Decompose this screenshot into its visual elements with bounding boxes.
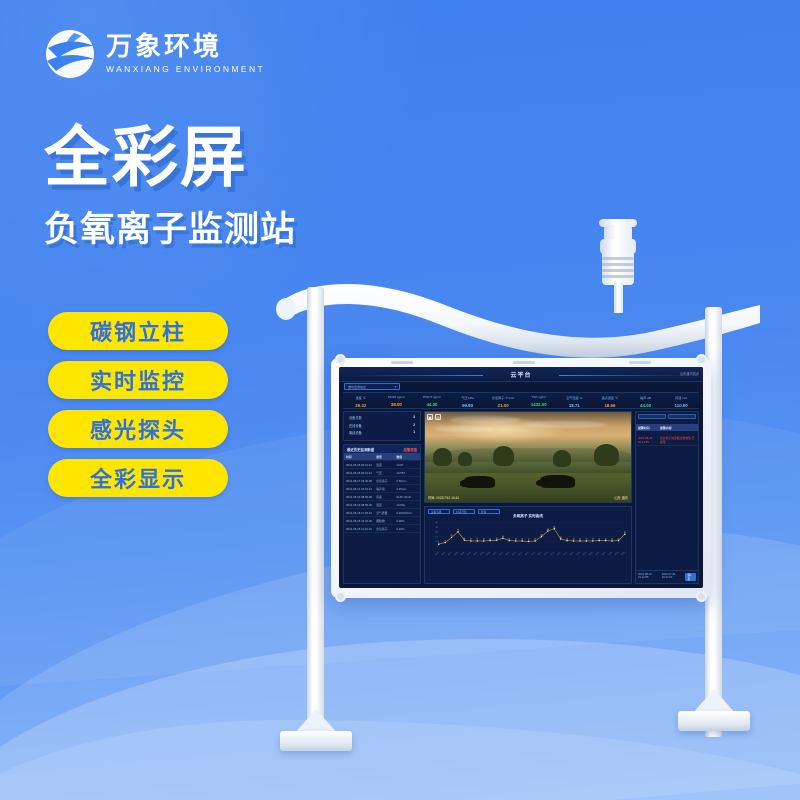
tree-5 <box>594 444 619 466</box>
svg-text:08-18: 08-18 <box>544 552 548 556</box>
cabinet-vent-left <box>391 361 413 364</box>
negative-ion-line-chart: 60483624120508-01908-022208-033608-04150… <box>428 520 628 555</box>
svg-text:12: 12 <box>436 541 438 543</box>
svg-text:08-06: 08-06 <box>467 552 471 556</box>
cloud-1 <box>450 416 520 424</box>
alarm-page-indicator[interactable]: 第1页 <box>685 573 696 581</box>
brand-text: 万象环境 WANXIANG ENVIRONMENT <box>106 34 265 74</box>
metric-10: 风速 m/s110.00 <box>663 393 699 408</box>
table-cell: 2022-08-15 13:02:36 <box>346 519 376 523</box>
svg-text:08-10: 08-10 <box>493 552 497 556</box>
metric-label: PM2.5 ug/m³ <box>414 395 450 399</box>
metric-label: 空气湿度 % <box>557 395 593 400</box>
table-row[interactable]: 2022-08-15 11:22:10负氧离子0.26% <box>344 525 420 533</box>
station-select[interactable]: 潍坊监测站点 ▾ <box>344 383 400 390</box>
svg-text:36: 36 <box>436 532 438 534</box>
table-cell: 2022-08-28 09:10:12 <box>346 463 376 467</box>
tree-2 <box>458 452 472 466</box>
svg-text:13: 13 <box>521 539 523 541</box>
alarm-footer-right: 2022-07-31 16:47:00 <box>662 573 686 581</box>
table-cell: 0.0001%CO <box>396 511 418 515</box>
base-gusset-left <box>295 709 337 733</box>
table-cell: 2022-08-18 17:05:16 <box>346 511 376 515</box>
svg-text:08-27: 08-27 <box>602 552 606 556</box>
video-timestamp: 时间: 2022/7/13 16:42 <box>428 495 459 500</box>
metric-value: 38.00 <box>379 402 415 407</box>
svg-text:9: 9 <box>445 540 446 542</box>
svg-text:44: 44 <box>553 526 555 528</box>
metric-8: 露点温度 ℃18.56 <box>592 393 628 408</box>
table-column-header: 类型 <box>376 455 396 459</box>
svg-text:18: 18 <box>560 537 562 539</box>
user-label[interactable]: 山东潍坊站点 <box>680 371 699 376</box>
svg-text:13: 13 <box>515 539 517 541</box>
brand-logo: 万象环境 WANXIANG ENVIRONMENT <box>44 28 265 80</box>
svg-text:08-13: 08-13 <box>512 552 516 556</box>
platform-title: 云平台 <box>339 370 703 379</box>
table-cell: 19.8hk <box>396 503 418 507</box>
svg-text:08-21: 08-21 <box>563 552 567 556</box>
metric-label: 负氧离子 个/cm³ <box>485 395 521 400</box>
metric-label: 温度 ℃ <box>343 395 379 400</box>
history-table-panel: 最近历史监测数据 超警戒值 时间类型数值2022-08-28 09:10:12温… <box>343 444 421 584</box>
table-row[interactable]: 2022-08-20 08:56:28风速0145.10m/h <box>344 493 420 501</box>
table-cell: 2022-08-27 16:40:38 <box>346 479 376 483</box>
svg-text:0: 0 <box>437 546 438 548</box>
metric-1: 温度 ℃26.32 <box>343 393 379 408</box>
tree-3 <box>493 446 514 466</box>
svg-text:08-05: 08-05 <box>461 552 465 556</box>
svg-text:08-02: 08-02 <box>442 552 446 556</box>
svg-text:14: 14 <box>598 538 600 540</box>
svg-text:08-09: 08-09 <box>486 552 490 556</box>
square-flange-base-right <box>678 711 750 731</box>
feature-badge-4: 全彩显示 <box>48 459 228 497</box>
center-column: ▣ ◎ 时间: 2022/7/13 16:42 山东 潍坊 设备选择 时间范围 … <box>424 411 632 584</box>
svg-text:13: 13 <box>573 539 575 541</box>
brand-name-en: WANXIANG ENVIRONMENT <box>106 64 265 74</box>
svg-text:13: 13 <box>470 539 472 541</box>
table-row[interactable]: 2022-08-21 16:10:21噪声值3.95m/s <box>344 485 420 493</box>
svg-text:30: 30 <box>624 532 626 534</box>
svg-text:13: 13 <box>476 539 478 541</box>
alarm-panel: 报警时间 报警内容 2022-08-12 10:12:55负氧离子浓度超过警戒值… <box>635 411 699 584</box>
stat-label: 设备总数 <box>349 415 362 420</box>
mount-lug-top-right <box>696 354 707 365</box>
chart-title: 负氧离子 实时曲线 <box>425 514 631 519</box>
table-column-header: 时间 <box>346 455 376 459</box>
alarm-footer: 2022-08-12 10:12:55 2022-07-31 16:47:00 … <box>636 570 698 583</box>
svg-text:13: 13 <box>534 539 536 541</box>
device-stats-panel: 设备总数3在线设备2离线设备1 <box>343 411 421 441</box>
svg-text:13: 13 <box>483 539 485 541</box>
alarm-col-time: 报警时间 <box>638 426 660 430</box>
svg-text:14: 14 <box>618 538 620 540</box>
video-location: 山东 潍坊 <box>614 495 628 500</box>
svg-text:14: 14 <box>566 538 568 540</box>
table-cell: 气压 <box>376 471 396 475</box>
table-row[interactable]: 2022-08-19 08:55:30湿度19.8hk <box>344 501 420 509</box>
cow-1-head <box>460 480 470 486</box>
table-cell: 温度 <box>376 463 396 467</box>
svg-text:14: 14 <box>508 538 510 540</box>
svg-text:13: 13 <box>592 539 594 541</box>
stat-label: 离线设备 <box>349 430 362 435</box>
svg-text:13: 13 <box>579 539 581 541</box>
metric-4: 气压 kPa99.80 <box>450 393 486 408</box>
metric-label: 风速 m/s <box>663 395 699 400</box>
chevron-down-icon: ▾ <box>394 385 396 389</box>
svg-text:08-19: 08-19 <box>551 552 555 556</box>
table-cell: 2022-08-19 08:55:30 <box>346 503 376 507</box>
svg-text:5: 5 <box>438 542 439 544</box>
alarm-tag-2 <box>668 414 696 419</box>
mount-lug-bottom-right <box>696 591 707 602</box>
monitoring-station-product: 云平台 山东潍坊站点 潍坊监测站点 ▾ 温度 ℃26.32PM10 ug/m³3… <box>255 215 775 775</box>
feature-badge-3: 感光探头 <box>48 410 228 448</box>
table-cell: 2022-08-15 11:22:10 <box>346 527 376 531</box>
svg-text:08-14: 08-14 <box>519 552 523 556</box>
svg-text:12: 12 <box>528 539 530 541</box>
alarm-table-header: 报警时间 报警内容 <box>636 424 698 431</box>
svg-text:08-20: 08-20 <box>557 552 561 556</box>
table-row[interactable]: 2022-08-18 17:05:16空气质量0.0001%CO <box>344 509 420 517</box>
metric-2: PM10 ug/m³38.00 <box>379 393 415 408</box>
table-cell: 43.587 <box>396 471 418 475</box>
table-cell: 负氧离子 <box>376 527 396 531</box>
table-column-header: 数值 <box>396 455 418 459</box>
tree-4 <box>553 450 572 467</box>
svg-text:22: 22 <box>451 535 453 537</box>
headline-main: 全彩屏 <box>44 124 296 191</box>
cow-2-head <box>536 480 546 486</box>
svg-text:08-25: 08-25 <box>589 552 593 556</box>
table-cell: 0.26% <box>396 527 418 531</box>
device-stat-1: 设备总数3 <box>349 415 415 420</box>
table-cell: 2022-08-28 09:10:12 <box>346 471 376 475</box>
table-cell: 0145.10m/h <box>396 495 418 499</box>
alarm-col-content: 报警内容 <box>660 426 672 430</box>
svg-text:08-11: 08-11 <box>499 552 503 556</box>
svg-text:08-07: 08-07 <box>474 552 478 556</box>
svg-text:14: 14 <box>605 538 607 540</box>
svg-text:08-08: 08-08 <box>480 552 484 556</box>
metric-value: 110.00 <box>663 403 699 408</box>
base-gusset-right <box>693 689 735 713</box>
svg-text:15: 15 <box>464 538 466 540</box>
alarm-threshold-label: 超警戒值 <box>403 447 417 452</box>
alarm-table-body: 2022-08-12 10:12:55负氧离子浓度超过警戒值 已报警 <box>636 434 698 446</box>
video-toolbar[interactable]: ▣ ◎ <box>427 414 441 420</box>
metric-value: 18.71 <box>557 403 593 408</box>
svg-text:08-17: 08-17 <box>538 552 542 556</box>
svg-text:14: 14 <box>489 538 491 540</box>
metric-3: PM2.5 ug/m³44.00 <box>414 393 450 408</box>
metric-5: 负氧离子 个/cm³21.00 <box>485 393 521 408</box>
metric-value: 26.32 <box>343 403 379 408</box>
metric-label: TSP ug/m³ <box>521 395 557 399</box>
cloud-platform-screen: 云平台 山东潍坊站点 潍坊监测站点 ▾ 温度 ℃26.32PM10 ug/m³3… <box>339 367 703 588</box>
screen-body: 设备总数3在线设备2离线设备1 最近历史监测数据 超警戒值 时间类型数值2022… <box>343 411 699 584</box>
stat-value: 3 <box>413 415 415 420</box>
stat-value: 1 <box>413 430 415 435</box>
cloud-3 <box>435 426 493 431</box>
live-video-feed[interactable]: ▣ ◎ 时间: 2022/7/13 16:42 山东 潍坊 <box>424 411 632 503</box>
metric-9: 噪声 dB44.00 <box>628 393 664 408</box>
feature-badge-2: 实时监控 <box>48 361 228 399</box>
table-row[interactable]: 2022-08-28 09:10:12温度23.87 <box>344 461 420 469</box>
metric-label: 气压 kPa <box>450 395 486 400</box>
svg-text:08-22: 08-22 <box>570 552 574 556</box>
history-table-title: 最近历史监测数据 <box>347 447 374 452</box>
table-cell: 负氧离子 <box>376 479 396 483</box>
metric-value: 18.56 <box>592 403 628 408</box>
alarm-row[interactable]: 2022-08-12 10:12:55负氧离子浓度超过警戒值 已报警 <box>636 434 698 446</box>
history-table-body: 时间类型数值2022-08-28 09:10:12温度23.872022-08-… <box>344 453 420 533</box>
svg-text:08-03: 08-03 <box>448 552 452 556</box>
globe-swoosh-logo-icon <box>44 28 96 80</box>
alarm-footer-left: 2022-08-12 10:12:55 <box>638 573 662 581</box>
svg-text:13: 13 <box>611 539 613 541</box>
station-select-value: 潍坊监测站点 <box>348 385 366 389</box>
led-display-cabinet: 云平台 山东潍坊站点 潍坊监测站点 ▾ 温度 ℃26.32PM10 ug/m³3… <box>331 358 711 598</box>
svg-text:08-23: 08-23 <box>576 552 580 556</box>
snapshot-icon[interactable]: ▣ <box>427 414 433 420</box>
table-cell: 空气质量 <box>376 511 396 515</box>
table-cell: 3.95m/s <box>396 487 418 491</box>
svg-text:60: 60 <box>436 522 438 524</box>
metric-label: 噪声 dB <box>628 395 664 400</box>
svg-text:08-30: 08-30 <box>621 552 625 556</box>
svg-text:13: 13 <box>585 539 587 541</box>
metric-6: TSP ug/m³1432.00 <box>521 393 557 408</box>
table-cell: 湿度 <box>376 503 396 507</box>
table-cell: 噪声值 <box>376 487 396 491</box>
metric-strip: 温度 ℃26.32PM10 ug/m³38.00PM2.5 ug/m³44.00… <box>343 392 699 409</box>
history-table-header: 最近历史监测数据 超警戒值 <box>344 445 420 453</box>
svg-text:08-16: 08-16 <box>531 552 535 556</box>
table-cell: 风速 <box>376 495 396 499</box>
svg-text:15: 15 <box>496 538 498 540</box>
svg-text:08-29: 08-29 <box>615 552 619 556</box>
svg-text:08-28: 08-28 <box>608 552 612 556</box>
svg-text:48: 48 <box>436 527 438 529</box>
alarm-tag-1 <box>638 414 666 419</box>
support-post-left <box>307 287 324 737</box>
svg-text:24: 24 <box>436 536 438 538</box>
mount-lug-top-left <box>335 354 346 365</box>
device-stat-2: 在线设备2 <box>349 423 415 428</box>
metric-value: 21.00 <box>485 403 521 408</box>
brand-name-cn: 万象环境 <box>106 34 265 61</box>
svg-text:36: 36 <box>457 530 459 532</box>
device-stat-3: 离线设备1 <box>349 430 415 435</box>
svg-text:08-04: 08-04 <box>454 552 458 556</box>
ultrasonic-weather-sensor-icon <box>595 217 641 309</box>
square-flange-base-left <box>280 731 352 751</box>
svg-text:08-26: 08-26 <box>596 552 600 556</box>
alarm-cell: 2022-08-12 10:12:55 <box>638 436 660 444</box>
svg-text:38: 38 <box>547 529 549 531</box>
tree-1 <box>433 448 452 466</box>
metric-value: 44.00 <box>628 403 664 408</box>
svg-text:20: 20 <box>502 536 504 538</box>
table-header-row: 时间类型数值 <box>344 453 420 461</box>
feature-badge-list: 碳钢立柱 实时监控 感光探头 全彩显示 <box>48 312 228 497</box>
table-cell: 0.08% <box>396 519 418 523</box>
table-cell: 2022-08-21 16:10:21 <box>346 487 376 491</box>
metric-label: 露点温度 ℃ <box>592 395 628 400</box>
feature-badge-1: 碳钢立柱 <box>48 312 228 350</box>
table-row[interactable]: 2022-08-15 13:02:36颗粒物0.08% <box>344 517 420 525</box>
svg-text:08-15: 08-15 <box>525 552 529 556</box>
metric-value: 44.00 <box>414 402 450 407</box>
metric-label: PM10 ug/m³ <box>379 395 415 399</box>
left-column: 设备总数3在线设备2离线设备1 最近历史监测数据 超警戒值 时间类型数值2022… <box>343 411 421 584</box>
alarm-tag-row <box>636 412 698 421</box>
svg-text:08-12: 08-12 <box>506 552 510 556</box>
record-icon[interactable]: ◎ <box>435 414 441 420</box>
table-cell: 23.87 <box>396 463 418 467</box>
table-cell: 2022-08-20 08:56:28 <box>346 495 376 499</box>
table-row[interactable]: 2022-08-27 16:40:38负氧离子0.58mm <box>344 477 420 485</box>
svg-text:08-24: 08-24 <box>583 552 587 556</box>
cabinet-vent-right <box>629 361 651 364</box>
metric-value: 1432.00 <box>521 402 557 407</box>
svg-text:08-01: 08-01 <box>435 552 439 556</box>
stat-value: 2 <box>413 423 415 428</box>
screen-header: 云平台 山东潍坊站点 <box>339 367 703 382</box>
cabinet-vent-center <box>513 361 535 364</box>
metric-7: 空气湿度 %18.71 <box>557 393 593 408</box>
alarm-cell: 负氧离子浓度超过警戒值 已报警 <box>660 436 696 444</box>
stat-label: 在线设备 <box>349 423 362 428</box>
table-cell: 0.58mm <box>396 479 418 483</box>
svg-text:24: 24 <box>541 534 543 536</box>
realtime-chart-panel: 设备选择 时间范围 查询 负氧离子 实时曲线 60483624120508-01… <box>424 506 632 584</box>
table-cell: 颗粒物 <box>376 519 396 523</box>
table-row[interactable]: 2022-08-28 09:10:12气压43.587 <box>344 469 420 477</box>
mount-lug-bottom-left <box>335 591 346 602</box>
metric-value: 99.80 <box>450 403 486 408</box>
